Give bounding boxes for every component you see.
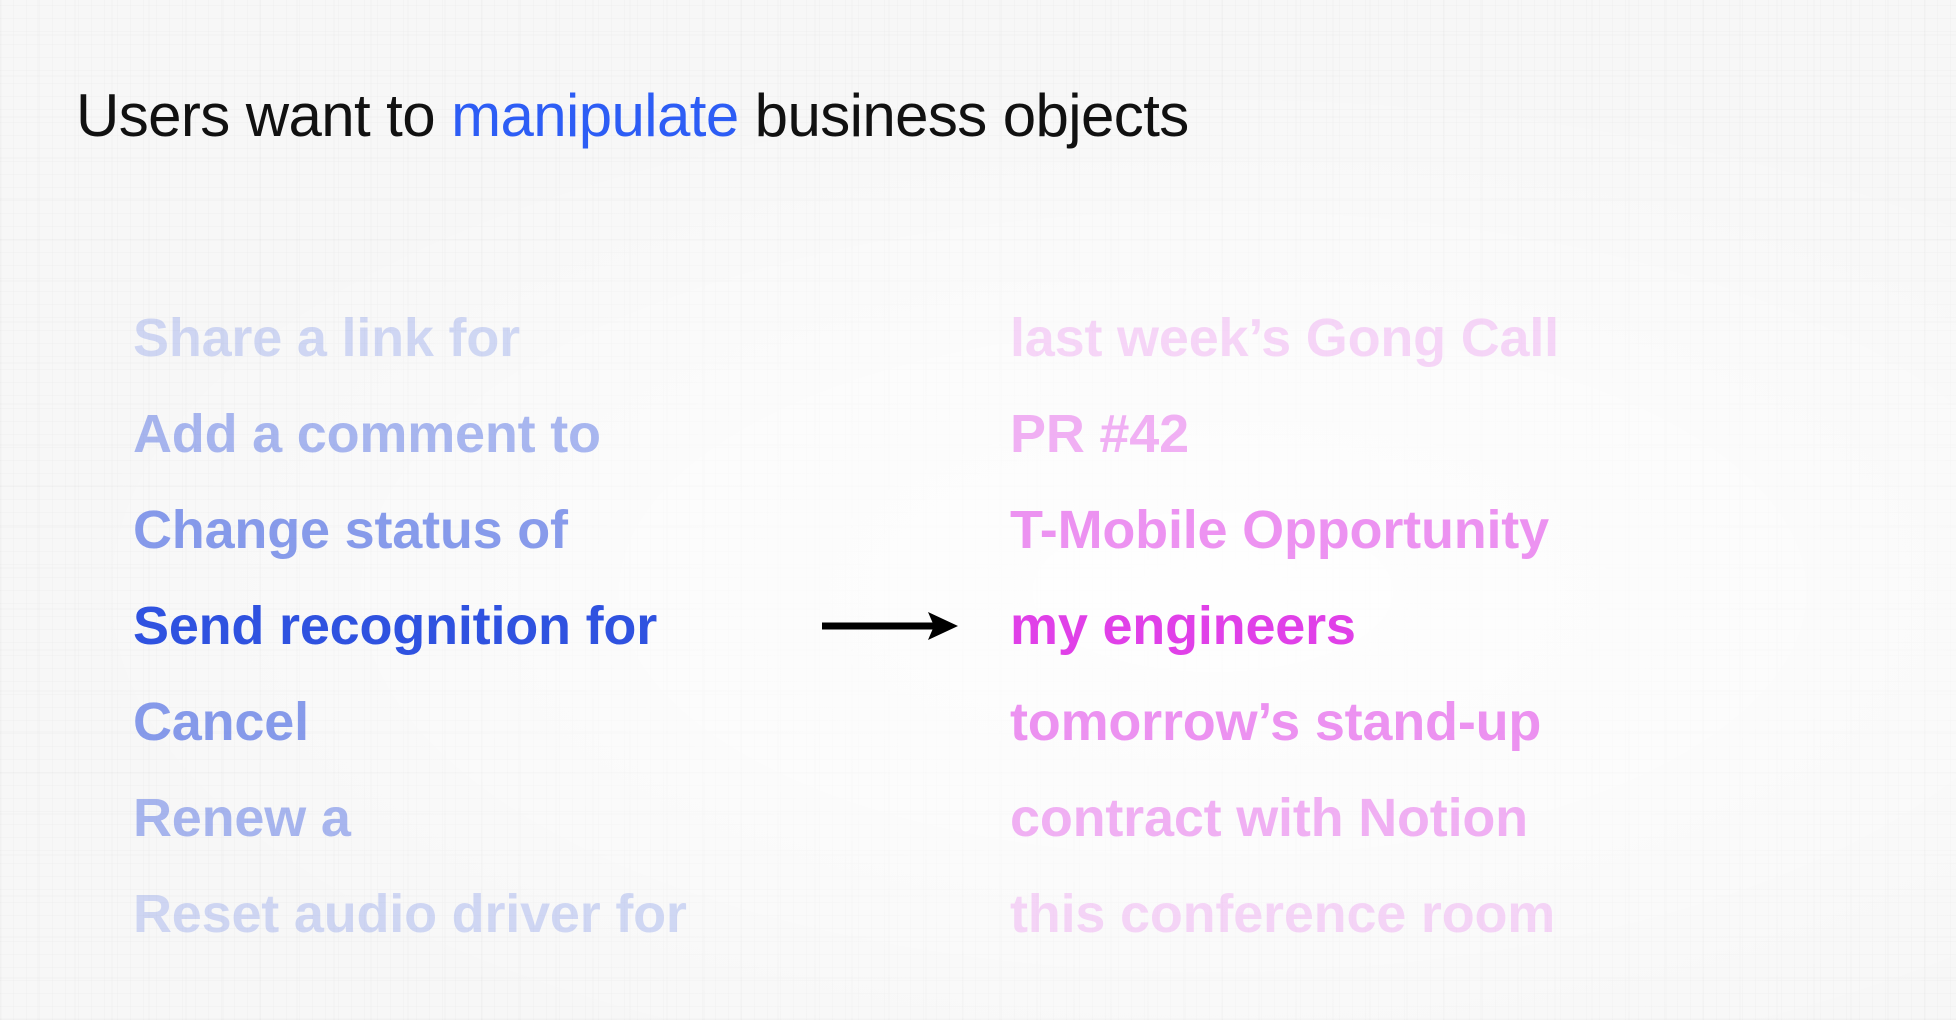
action-label: Share a link for [133,290,520,386]
object-label: PR #42 [1010,386,1189,482]
arrow-right-icon [820,608,960,644]
object-label: last week’s Gong Call [1010,290,1559,386]
action-label: Cancel [133,674,309,770]
slide-canvas: Users want to manipulate business object… [0,0,1956,1020]
table-row: Change status ofT-Mobile Opportunity [0,482,1956,578]
action-label: Renew a [133,770,351,866]
action-label: Change status of [133,482,568,578]
object-label: my engineers [1010,578,1356,674]
object-label: tomorrow’s stand-up [1010,674,1541,770]
object-label: this conference room [1010,866,1555,962]
title-accent-word: manipulate [451,82,739,149]
table-row: Canceltomorrow’s stand-up [0,674,1956,770]
table-row: Send recognition formy engineers [0,578,1956,674]
page-title: Users want to manipulate business object… [76,78,1189,153]
title-suffix: business objects [739,82,1189,149]
object-label: contract with Notion [1010,770,1528,866]
action-label: Send recognition for [133,578,657,674]
object-label: T-Mobile Opportunity [1010,482,1549,578]
table-row: Add a comment toPR #42 [0,386,1956,482]
table-row: Share a link forlast week’s Gong Call [0,290,1956,386]
action-label: Reset audio driver for [133,866,687,962]
table-row: Reset audio driver forthis conference ro… [0,866,1956,962]
action-label: Add a comment to [133,386,601,482]
title-prefix: Users want to [76,82,451,149]
action-object-list: Share a link forlast week’s Gong CallAdd… [0,290,1956,962]
table-row: Renew acontract with Notion [0,770,1956,866]
